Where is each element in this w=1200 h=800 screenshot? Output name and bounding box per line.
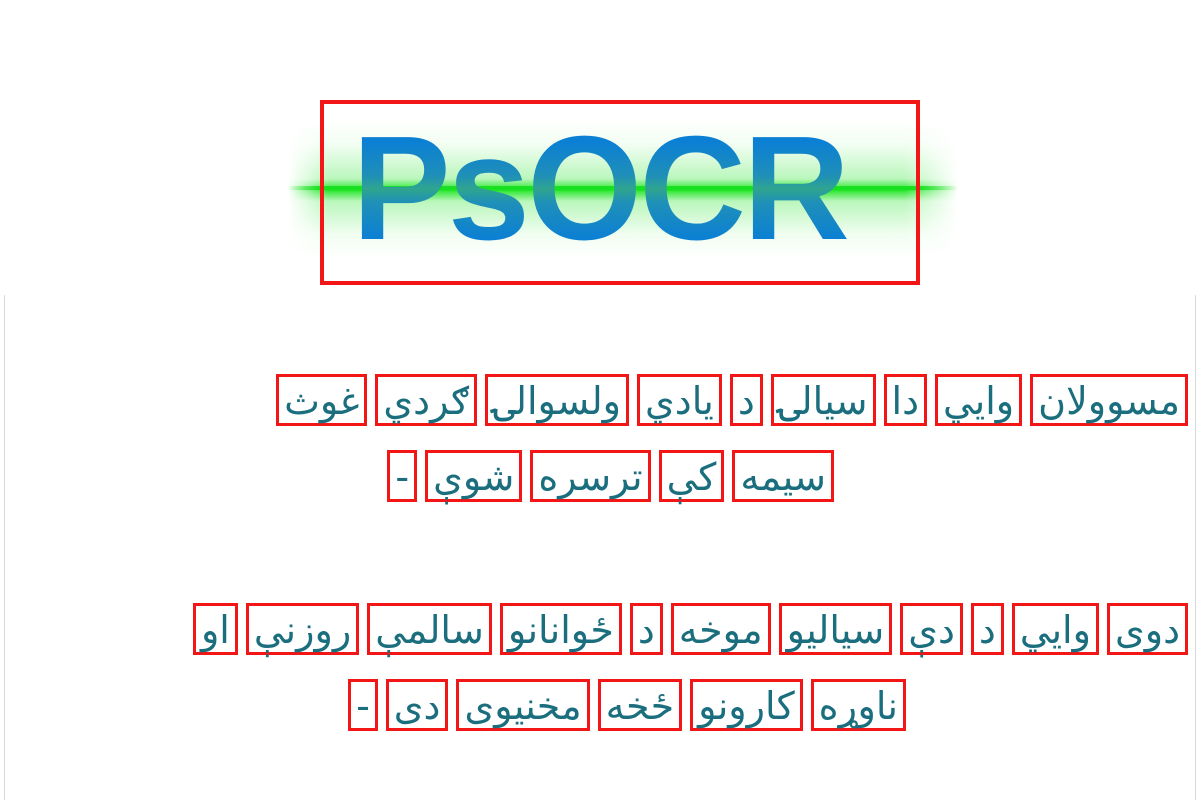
ocr-word-box[interactable]: او (193, 603, 238, 655)
ocr-word-box[interactable]: شوې (425, 450, 522, 502)
ocr-word-box[interactable]: ځخه (598, 679, 682, 731)
ocr-word-box[interactable]: سيمه (732, 450, 834, 502)
logo-banner: PsOCR (0, 0, 1200, 295)
ocr-word-box[interactable]: سيالۍ (771, 374, 876, 426)
ocr-word-box[interactable]: سياليو (779, 603, 893, 655)
ocr-word-box[interactable]: وايي (1012, 603, 1099, 655)
ocr-word-box[interactable]: ناوړه (811, 679, 906, 731)
ocr-word-box[interactable]: يادي (637, 374, 722, 426)
ocr-line-3: دوی وايي د دې سياليو موخه د ځوانانو سالم… (189, 603, 1192, 655)
ocr-line-1: مسوولان وايي دا سيالۍ د يادي ولسوالۍ ګرد… (272, 374, 1192, 426)
ocr-word-box[interactable]: د (971, 603, 1004, 655)
ocr-word-box[interactable]: موخه (671, 603, 771, 655)
ocr-word-box[interactable]: وايي (935, 374, 1022, 426)
ocr-word-box[interactable]: ولسوالۍ (485, 374, 629, 426)
ocr-word-box[interactable]: ځوانانو (500, 603, 622, 655)
ocr-word-box[interactable]: - (348, 679, 378, 731)
ocr-word-box[interactable]: کارونو (690, 679, 803, 731)
ocr-word-box[interactable]: دې (900, 603, 963, 655)
ocr-word-box[interactable]: دا (884, 374, 927, 426)
ocr-line-4: ناوړه کارونو ځخه مخنيوی دی - (344, 679, 910, 731)
ocr-word-box[interactable]: د (630, 603, 663, 655)
ocr-word-box[interactable]: - (387, 450, 417, 502)
ocr-word-box[interactable]: د (730, 374, 763, 426)
ocr-word-box[interactable]: دی (386, 679, 449, 731)
app-logo-wordmark: PsOCR (352, 104, 892, 274)
ocr-word-box[interactable]: مسوولان (1030, 374, 1188, 426)
ocr-word-box[interactable]: غوث (276, 374, 367, 426)
ocr-word-box[interactable]: ګردي (375, 374, 477, 426)
ocr-word-box[interactable]: کې (659, 450, 725, 502)
ocr-line-2: سيمه کې ترسره شوې - (383, 450, 838, 502)
ocr-word-box[interactable]: روزنې (246, 603, 359, 655)
ocr-word-box[interactable]: مخنيوی (456, 679, 589, 731)
ocr-word-box[interactable]: ترسره (530, 450, 650, 502)
ocr-word-box[interactable]: سالمې (367, 603, 492, 655)
ocr-word-box[interactable]: دوی (1107, 603, 1188, 655)
ocr-text-region: مسوولان وايي دا سيالۍ د يادي ولسوالۍ ګرد… (0, 295, 1200, 800)
